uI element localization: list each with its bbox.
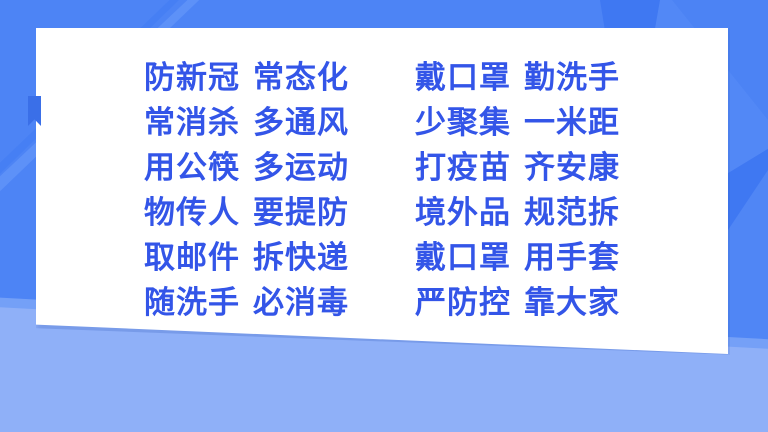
slogan-segment-first: 境外品 bbox=[415, 195, 511, 231]
slogan-segment-first: 物传人 bbox=[144, 195, 240, 231]
slogan-line: 戴口罩勤洗手 bbox=[415, 58, 620, 99]
slogan-segment-second: 必消毒 bbox=[253, 285, 349, 321]
slogan-segment-second: 一米距 bbox=[524, 105, 620, 141]
slogan-line: 少聚集一米距 bbox=[415, 103, 620, 144]
slogan-segment-first: 严防控 bbox=[415, 285, 511, 321]
slogan-line: 防新冠常态化 bbox=[144, 58, 349, 99]
slogan-line: 取邮件拆快递 bbox=[144, 238, 349, 279]
slogan-column-left: 防新冠常态化 常消杀多通风 用公筷多运动 物传人要提防 取邮件拆快递 随洗手必消… bbox=[144, 58, 349, 324]
slogan-segment-second: 规范拆 bbox=[524, 195, 620, 231]
slogan-line: 物传人要提防 bbox=[144, 193, 349, 234]
slogan-segment-first: 防新冠 bbox=[144, 60, 240, 96]
slogan-segment-first: 打疫苗 bbox=[415, 150, 511, 186]
slogan-line: 随洗手必消毒 bbox=[144, 283, 349, 324]
slogan-segment-second: 勤洗手 bbox=[524, 60, 620, 96]
slogan-segment-second: 多通风 bbox=[253, 105, 349, 141]
slogan-column-right: 戴口罩勤洗手 少聚集一米距 打疫苗齐安康 境外品规范拆 戴口罩用手套 严防控靠大… bbox=[415, 58, 620, 324]
slogan-segment-first: 戴口罩 bbox=[415, 60, 511, 96]
poster-canvas: 防新冠常态化 常消杀多通风 用公筷多运动 物传人要提防 取邮件拆快递 随洗手必消… bbox=[0, 0, 768, 432]
slogan-segment-second: 靠大家 bbox=[524, 285, 620, 321]
slogan-segment-second: 常态化 bbox=[253, 60, 349, 96]
slogan-segment-first: 用公筷 bbox=[144, 150, 240, 186]
slogan-segment-second: 用手套 bbox=[524, 240, 620, 276]
slogan-line: 严防控靠大家 bbox=[415, 283, 620, 324]
slogan-segment-second: 要提防 bbox=[253, 195, 349, 231]
slogan-segment-first: 常消杀 bbox=[144, 105, 240, 141]
slogan-line: 戴口罩用手套 bbox=[415, 238, 620, 279]
slogan-segment-second: 拆快递 bbox=[253, 240, 349, 276]
slogan-segment-second: 多运动 bbox=[253, 150, 349, 186]
slogan-line: 常消杀多通风 bbox=[144, 103, 349, 144]
slogan-segment-first: 少聚集 bbox=[415, 105, 511, 141]
slogan-segment-second: 齐安康 bbox=[524, 150, 620, 186]
slogan-area: 防新冠常态化 常消杀多通风 用公筷多运动 物传人要提防 取邮件拆快递 随洗手必消… bbox=[36, 28, 728, 354]
slogan-segment-first: 随洗手 bbox=[144, 285, 240, 321]
slogan-segment-first: 取邮件 bbox=[144, 240, 240, 276]
slogan-segment-first: 戴口罩 bbox=[415, 240, 511, 276]
slogan-line: 境外品规范拆 bbox=[415, 193, 620, 234]
slogan-line: 用公筷多运动 bbox=[144, 148, 349, 189]
slogan-line: 打疫苗齐安康 bbox=[415, 148, 620, 189]
